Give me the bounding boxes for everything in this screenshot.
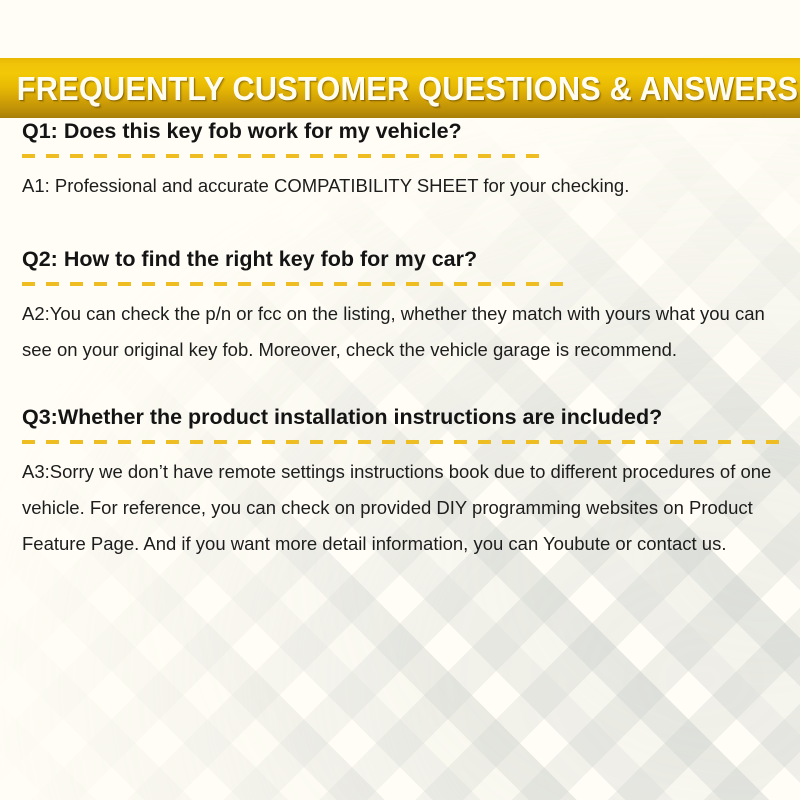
faq-question-2: Q2: How to find the right key fob for my… xyxy=(22,246,778,273)
faq-divider-2 xyxy=(22,282,567,286)
faq-banner: FREQUENTLY CUSTOMER QUESTIONS & ANSWERS … xyxy=(0,0,800,800)
faq-question-3: Q3:Whether the product installation inst… xyxy=(22,404,778,431)
faq-answer-3: A3:Sorry we don’t have remote settings i… xyxy=(22,454,778,562)
faq-question-1: Q1: Does this key fob work for my vehicl… xyxy=(22,118,778,145)
page-title: FREQUENTLY CUSTOMER QUESTIONS & ANSWERS xyxy=(0,72,746,105)
faq-answer-1: A1: Professional and accurate COMPATIBIL… xyxy=(22,168,778,204)
faq-item-1: Q1: Does this key fob work for my vehicl… xyxy=(22,118,778,204)
spacer-1 xyxy=(22,204,778,246)
faq-divider-3 xyxy=(22,440,790,444)
faq-item-3: Q3:Whether the product installation inst… xyxy=(22,404,778,562)
spacer-2 xyxy=(22,368,778,404)
header-banner: FREQUENTLY CUSTOMER QUESTIONS & ANSWERS xyxy=(0,58,800,118)
faq-item-2: Q2: How to find the right key fob for my… xyxy=(22,246,778,368)
faq-list: Q1: Does this key fob work for my vehicl… xyxy=(0,118,800,562)
faq-divider-1 xyxy=(22,154,542,158)
faq-answer-2: A2:You can check the p/n or fcc on the l… xyxy=(22,296,778,368)
